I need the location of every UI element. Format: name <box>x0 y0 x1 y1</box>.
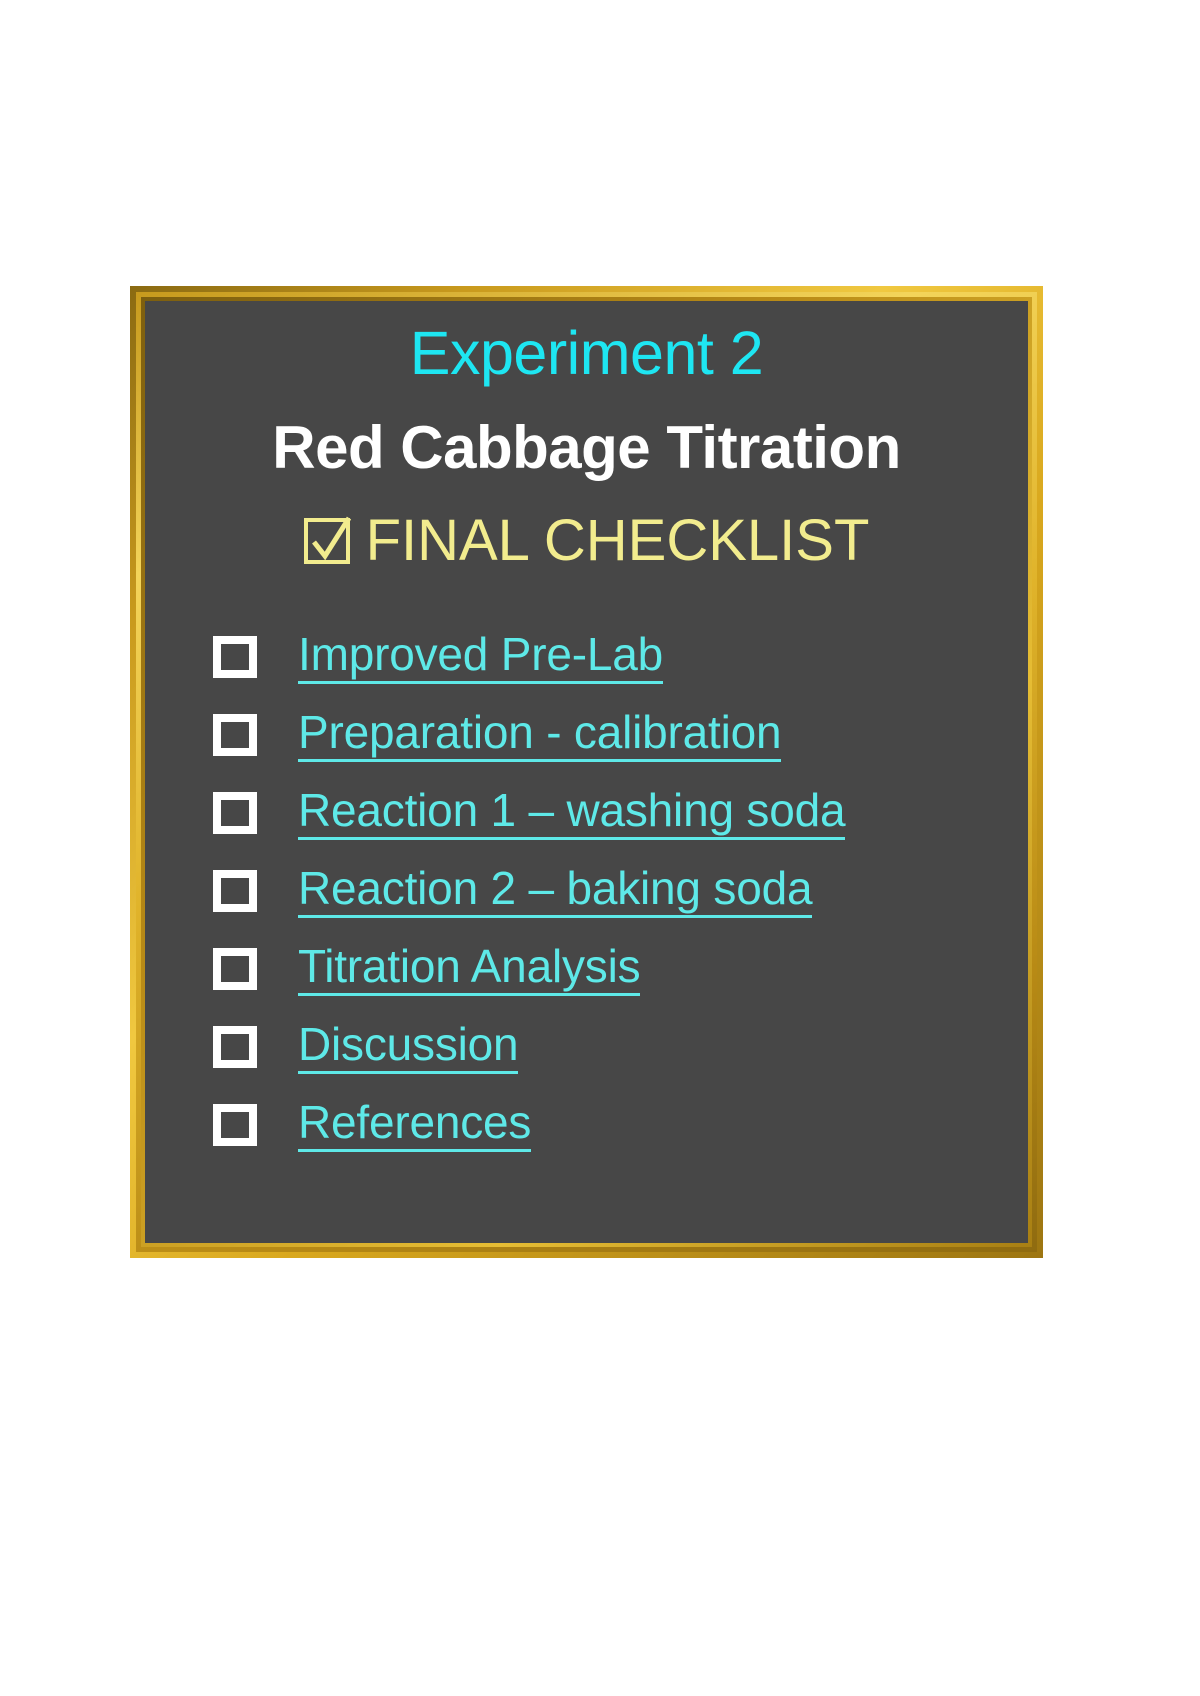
unchecked-checkbox-icon[interactable] <box>213 1026 257 1068</box>
unchecked-checkbox-icon[interactable] <box>213 714 257 756</box>
list-item-link-wrap: Reaction 2 – baking soda <box>298 864 812 918</box>
checklist-link-improved-pre-lab[interactable]: Improved Pre-Lab <box>298 630 663 684</box>
list-item: Titration Analysis <box>213 930 1028 1008</box>
list-item: Preparation - calibration <box>213 696 1028 774</box>
unchecked-checkbox-icon[interactable] <box>213 948 257 990</box>
checklist-link-preparation-calibration[interactable]: Preparation - calibration <box>298 708 781 762</box>
slide-heading-block: Experiment 2 Red Cabbage Titration FINAL… <box>145 301 1028 570</box>
list-item-link-wrap: Discussion <box>298 1020 518 1074</box>
unchecked-checkbox-icon[interactable] <box>213 792 257 834</box>
checklist-link-reaction-2-baking-soda[interactable]: Reaction 2 – baking soda <box>298 864 812 918</box>
slide-gold-frame: Experiment 2 Red Cabbage Titration FINAL… <box>130 286 1043 1258</box>
list-item: References <box>213 1086 1028 1164</box>
checklist-link-references[interactable]: References <box>298 1098 531 1152</box>
list-item-link-wrap: Titration Analysis <box>298 942 640 996</box>
unchecked-checkbox-icon[interactable] <box>213 1104 257 1146</box>
list-item-link-wrap: Preparation - calibration <box>298 708 781 762</box>
slide-canvas: Experiment 2 Red Cabbage Titration FINAL… <box>145 301 1028 1243</box>
checklist-link-reaction-1-washing-soda[interactable]: Reaction 1 – washing soda <box>298 786 845 840</box>
checklist-heading-row: FINAL CHECKLIST <box>145 512 1028 570</box>
checklist-heading-label: FINAL CHECKLIST <box>366 512 870 570</box>
checklist-items-list: Improved Pre-Lab Preparation - calibrati… <box>145 618 1028 1164</box>
list-item-link-wrap: Reaction 1 – washing soda <box>298 786 845 840</box>
page-title-subject: Red Cabbage Titration <box>145 418 1028 478</box>
page-title-experiment: Experiment 2 <box>145 323 1028 384</box>
checklist-link-discussion[interactable]: Discussion <box>298 1020 518 1074</box>
frame-band-outer: Experiment 2 Red Cabbage Titration FINAL… <box>136 292 1037 1252</box>
unchecked-checkbox-icon[interactable] <box>213 636 257 678</box>
list-item: Reaction 1 – washing soda <box>213 774 1028 852</box>
checked-checkbox-icon <box>304 518 350 564</box>
list-item: Discussion <box>213 1008 1028 1086</box>
list-item: Reaction 2 – baking soda <box>213 852 1028 930</box>
list-item-link-wrap: Improved Pre-Lab <box>298 630 663 684</box>
frame-band-inner: Experiment 2 Red Cabbage Titration FINAL… <box>141 297 1032 1247</box>
unchecked-checkbox-icon[interactable] <box>213 870 257 912</box>
list-item-link-wrap: References <box>298 1098 531 1152</box>
checklist-link-titration-analysis[interactable]: Titration Analysis <box>298 942 640 996</box>
list-item: Improved Pre-Lab <box>213 618 1028 696</box>
